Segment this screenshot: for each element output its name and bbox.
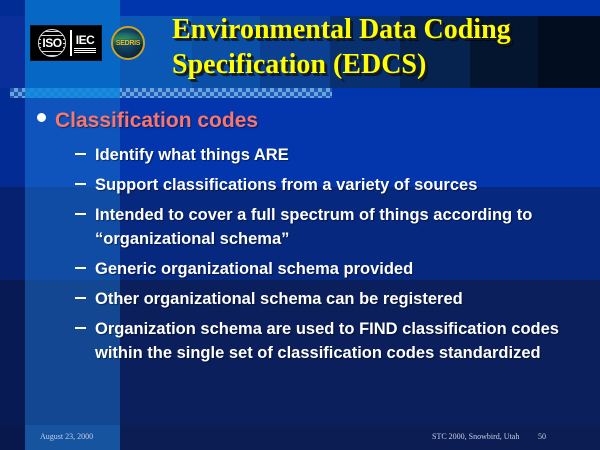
footer-event-label: STC 2000, Snowbird, Utah <box>432 432 519 441</box>
logo-group: ISO IEC SEDRIS <box>30 25 145 61</box>
slide-title-line-1: Environmental Data Coding <box>172 12 592 47</box>
bullet-dash-icon <box>75 183 86 185</box>
bullet-level1: Classification codes <box>55 108 600 134</box>
checkered-divider-highlight <box>25 88 120 98</box>
bullet-level2-item: Other organizational schema can be regis… <box>95 287 562 311</box>
slide-body: Classification codes Identify what thing… <box>0 108 600 371</box>
bullet-level1-label: Classification codes <box>55 109 258 132</box>
bullet-level2-label: Support classifications from a variety o… <box>95 176 477 194</box>
bullet-dash-icon <box>75 267 86 269</box>
title-banner-block <box>0 16 25 88</box>
iso-logo-label: ISO <box>41 37 62 49</box>
bullet-dash-icon <box>75 297 86 299</box>
iso-globe-icon: ISO <box>36 28 68 58</box>
slide-canvas: ISO IEC SEDRIS Environmental Data Coding… <box>0 0 600 450</box>
iso-iec-logo: ISO IEC <box>30 25 102 61</box>
footer-page-number: 50 <box>538 432 546 441</box>
bullet-dash-icon <box>75 213 86 215</box>
bullet-level2-item: Organization schema are used to FIND cla… <box>95 317 562 365</box>
bullet-level2-label: Organization schema are used to FIND cla… <box>95 320 559 362</box>
bullet-dash-icon <box>75 153 86 155</box>
slide-title: Environmental Data Coding Specification … <box>172 12 592 82</box>
iec-logo: IEC <box>74 34 96 53</box>
bullet-level2-item: Intended to cover a full spectrum of thi… <box>95 203 562 251</box>
bullet-dot-icon <box>37 113 46 122</box>
footer-date: August 23, 2000 <box>40 432 93 441</box>
bullet-level2-item: Support classifications from a variety o… <box>95 173 562 197</box>
bullet-dash-icon <box>75 327 86 329</box>
bullet-level2-item: Identify what things ARE <box>95 143 562 167</box>
bullet-level2-label: Identify what things ARE <box>95 146 289 164</box>
sedris-logo-label: SEDRIS <box>116 40 140 47</box>
bullet-level2-item: Generic organizational schema provided <box>95 257 562 281</box>
logo-divider <box>70 30 72 56</box>
slide-footer: August 23, 2000 STC 2000, Snowbird, Utah… <box>0 430 600 450</box>
bullet-level2-list: Identify what things ARE Support classif… <box>0 143 600 365</box>
sedris-globe-logo: SEDRIS <box>111 26 145 60</box>
bullet-level2-label: Intended to cover a full spectrum of thi… <box>95 206 532 248</box>
slide-title-line-2: Specification (EDCS) <box>172 47 592 82</box>
bullet-level2-label: Other organizational schema can be regis… <box>95 290 463 308</box>
iec-logo-label: IEC <box>76 34 95 46</box>
iec-underline-icon <box>74 47 96 53</box>
bullet-level2-label: Generic organizational schema provided <box>95 260 413 278</box>
